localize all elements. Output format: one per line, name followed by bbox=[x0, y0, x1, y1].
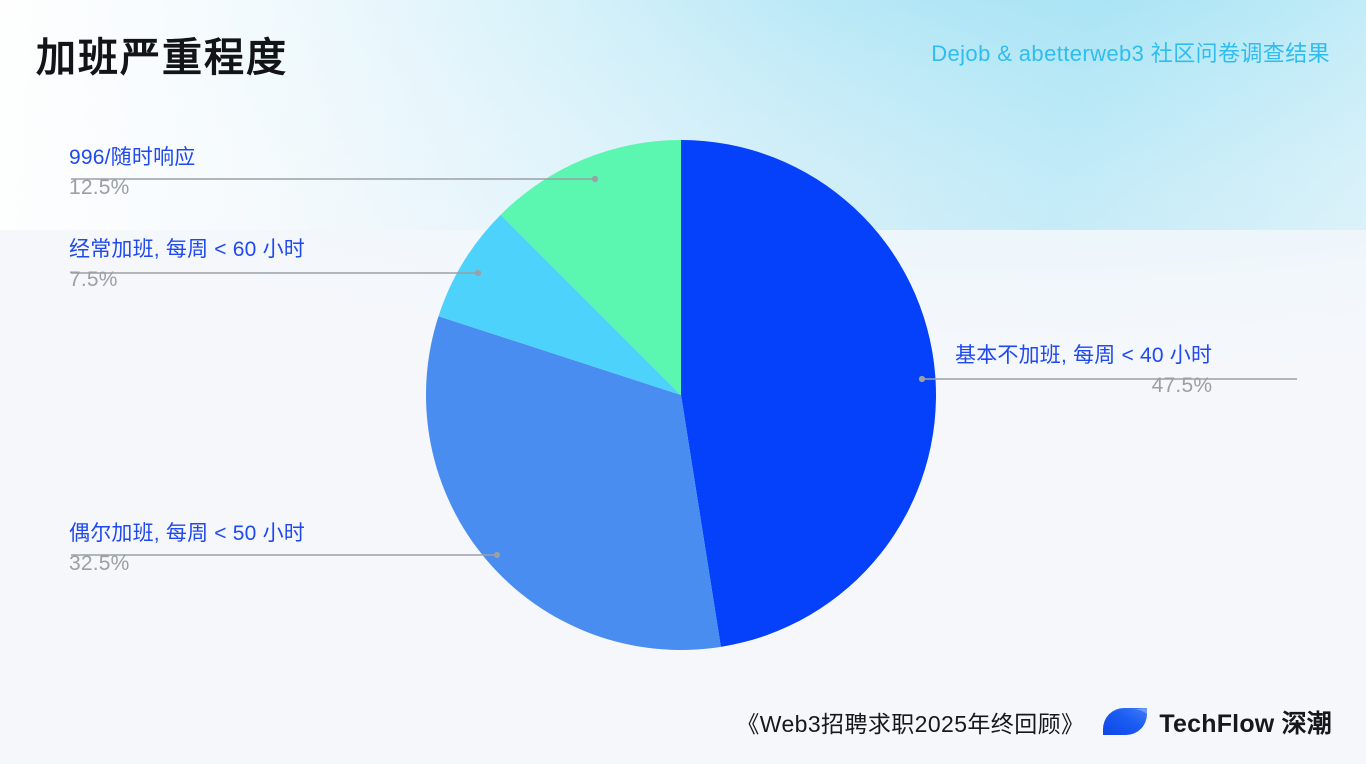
slide-canvas: 加班严重程度 Dejob & abetterweb3 社区问卷调查结果 bbox=[0, 0, 1366, 764]
callout-value: 12.5% bbox=[69, 174, 195, 201]
leader-dot-2 bbox=[475, 270, 481, 276]
report-title: 《Web3招聘求职2025年终回顾》 bbox=[736, 705, 1084, 739]
callout-label: 基本不加班, 每周 < 40 小时 bbox=[955, 343, 1212, 370]
callout-996-always-on[interactable]: 996/随时响应 12.5% bbox=[69, 145, 195, 201]
callout-value: 7.5% bbox=[69, 266, 305, 293]
callout-value: 32.5% bbox=[69, 550, 305, 577]
callout-basic-no-overtime[interactable]: 基本不加班, 每周 < 40 小时 47.5% bbox=[955, 343, 1212, 399]
leader-dot-1 bbox=[494, 552, 500, 558]
leader-dot-0 bbox=[919, 376, 925, 382]
pie-chart: 基本不加班, 每周 < 40 小时 47.5% 偶尔加班, 每周 < 50 小时… bbox=[0, 0, 1366, 764]
callout-occasional-overtime[interactable]: 偶尔加班, 每周 < 50 小时 32.5% bbox=[69, 521, 305, 577]
callout-label: 经常加班, 每周 < 60 小时 bbox=[69, 237, 305, 264]
callout-frequent-overtime[interactable]: 经常加班, 每周 < 60 小时 7.5% bbox=[69, 237, 305, 293]
pie-slices bbox=[426, 140, 936, 650]
callout-value: 47.5% bbox=[955, 372, 1212, 399]
footer: 《Web3招聘求职2025年终回顾》 TechFlow 深潮 bbox=[736, 704, 1332, 740]
techflow-leaf-logo-icon bbox=[1102, 707, 1148, 737]
brand-lockup: TechFlow 深潮 bbox=[1102, 704, 1332, 740]
callout-label: 996/随时响应 bbox=[69, 145, 195, 172]
leader-dot-3 bbox=[592, 176, 598, 182]
pie-slice-0[interactable] bbox=[681, 140, 936, 647]
callout-label: 偶尔加班, 每周 < 50 小时 bbox=[69, 521, 305, 548]
brand-name: TechFlow 深潮 bbox=[1159, 704, 1332, 740]
